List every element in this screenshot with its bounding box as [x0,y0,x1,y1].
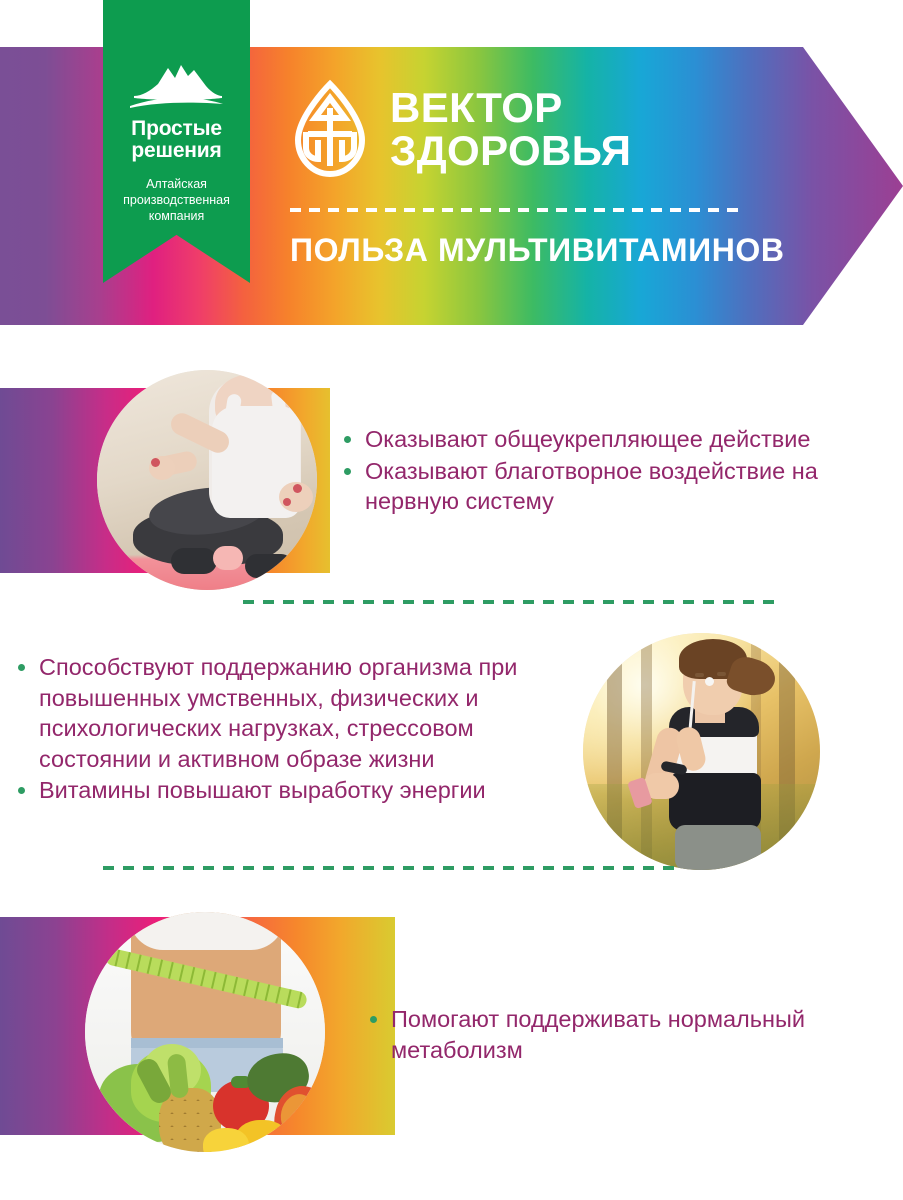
list-item: Помогают поддерживать нормальный метабол… [366,1004,886,1065]
ribbon-brand-line1: Простые [103,118,250,140]
droplet-plant-icon [288,78,372,182]
yoga-lotus-photo [97,370,317,590]
ribbon-descriptor-line1: Алтайская [103,176,250,192]
mountain-icon [103,56,250,112]
ribbon-brand-line2: решения [103,140,250,162]
waist-measure-fruits-photo [85,912,325,1152]
poster-root: Простые решения Алтайская производственн… [0,0,903,1200]
divider-1 [243,600,783,604]
running-woman-photo [583,633,820,870]
list-item: Витамины повышают выработку энергии [14,775,574,806]
section-3-bullets: Помогают поддерживать нормальный метабол… [366,1004,886,1066]
list-item: Способствуют поддержанию организма при п… [14,652,574,774]
list-item: Оказывают благотворное воздействие на не… [340,456,885,517]
page-title: ПОЛЬЗА МУЛЬТИВИТАМИНОВ [290,232,785,269]
header-brand-text: ВЕКТОР ЗДОРОВЬЯ [390,87,631,173]
ribbon-descriptor-line3: компания [103,208,250,224]
header-brand-line1: ВЕКТОР [390,87,631,130]
list-item: Оказывают общеукрепляющее действие [340,424,885,455]
ribbon-descriptor: Алтайская производственная компания [103,176,250,224]
ribbon-brand-name: Простые решения [103,118,250,162]
section-2-bullets: Способствуют поддержанию организма при п… [14,652,574,807]
ribbon-descriptor-line2: производственная [103,192,250,208]
header-brand-line2: ЗДОРОВЬЯ [390,130,631,173]
header-brand-block: ВЕКТОР ЗДОРОВЬЯ [288,78,631,182]
divider-2 [103,866,681,870]
dashed-rule-icon [290,208,746,212]
section-1-bullets: Оказывают общеукрепляющее действие Оказы… [340,424,885,518]
